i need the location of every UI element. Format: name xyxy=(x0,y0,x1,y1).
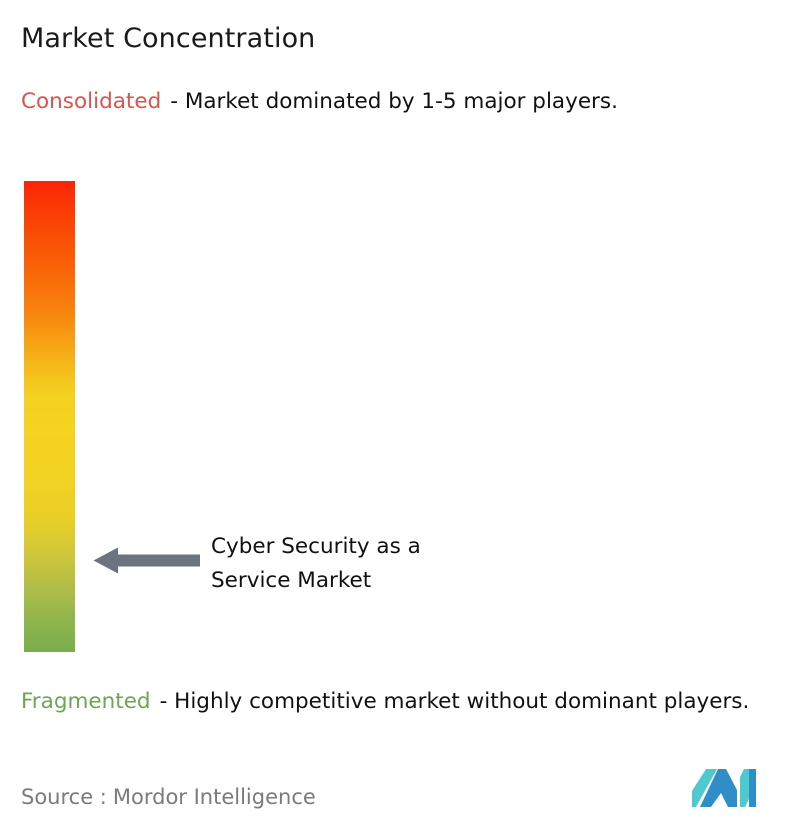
mordor-intelligence-logo-icon xyxy=(692,769,756,807)
market-concentration-chart: Market Concentration Consolidated- Marke… xyxy=(0,0,796,834)
brand-logo xyxy=(692,769,756,807)
market-position-label: Cyber Security as a Service Market xyxy=(211,530,421,598)
concentration-gradient-bar xyxy=(24,181,75,652)
source-value: Mordor Intelligence xyxy=(113,785,316,809)
legend-description-consolidated: - Market dominated by 1-5 major players. xyxy=(170,89,618,114)
source-label: Source : xyxy=(21,785,107,809)
legend-key-consolidated: Consolidated xyxy=(21,89,161,114)
legend-description-fragmented: - Highly competitive market without domi… xyxy=(160,689,750,714)
legend-key-fragmented: Fragmented xyxy=(21,689,151,714)
source-attribution: Source :Mordor Intelligence xyxy=(21,783,316,811)
left-arrow-icon xyxy=(92,545,201,576)
legend-fragmented: Fragmented- Highly competitive market wi… xyxy=(21,686,787,717)
market-position-label-line2: Service Market xyxy=(211,564,421,598)
market-position-pointer xyxy=(92,545,201,576)
page-title: Market Concentration xyxy=(21,22,315,55)
legend-consolidated: Consolidated- Market dominated by 1-5 ma… xyxy=(21,86,781,117)
market-position-label-line1: Cyber Security as a xyxy=(211,530,421,564)
